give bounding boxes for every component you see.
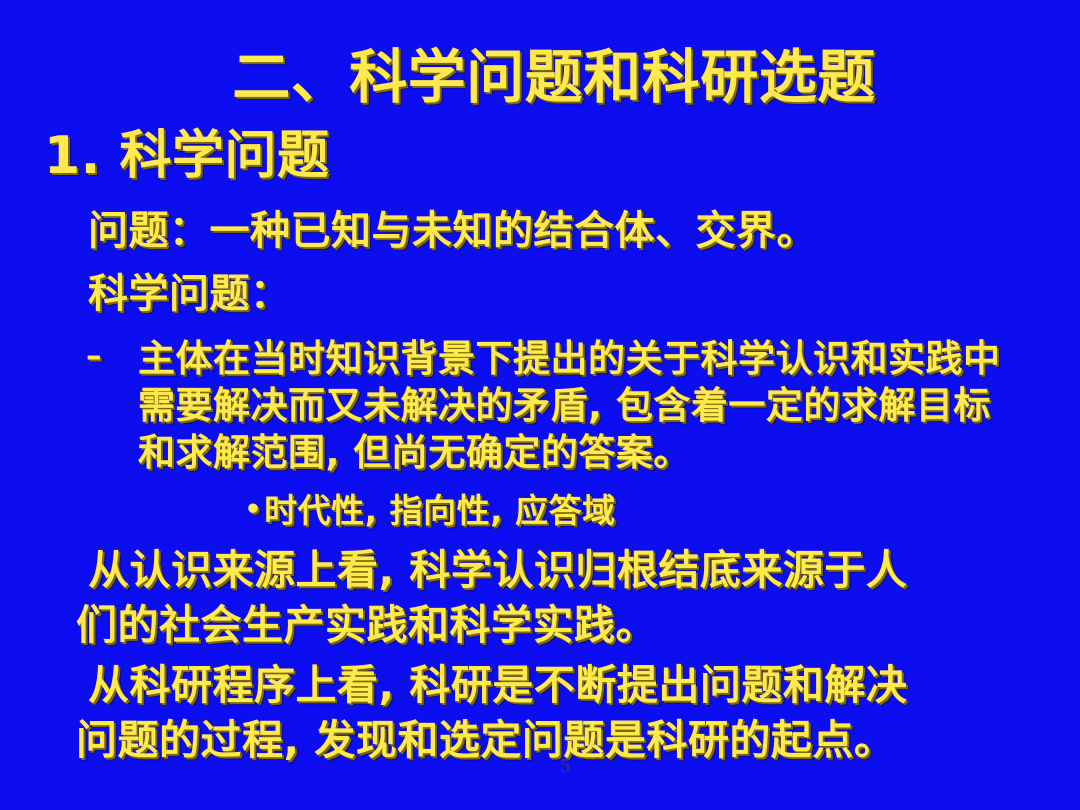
paragraph-research-procedure: 从科研程序上看, 科研是不断提出问题和解决 问题的过程, 发现和选定问题是科研的… [88,658,1023,768]
dash-bullet-marker: – [112,333,138,380]
slide-title: 二、科学问题和科研选题 [0,44,1080,110]
dash-bullet-text: 主体在当时知识背景下提出的关于科学认识和实践中需要解决而又未解决的矛盾, 包含着… [138,337,1001,474]
sub-bullet-text: 时代性, 指向性, 应答域 [264,491,616,530]
presentation-slide: 二、科学问题和科研选题 1. 科学问题 问题：一种已知与未知的结合体、交界。 科… [0,0,1080,810]
bullet-line-scientific-problem-label: 科学问题： [88,270,291,318]
sub-bullet-marker: • [244,494,262,525]
paragraph-cognition-source-line-1: 从认识来源上看, 科学认识归根结底来源于人 [88,546,907,594]
sub-bullet-item: •时代性, 指向性, 应答域 [0,489,1080,532]
section-heading: 1. 科学问题 [44,126,330,186]
bullet-line-problem-definition: 问题：一种已知与未知的结合体、交界。 [88,207,817,255]
paragraph-cognition-source: 从认识来源上看, 科学认识归根结底来源于人 们的社会生产实践和科学实践。 [88,543,1023,653]
paragraph-cognition-source-line-2: 们的社会生产实践和科学实践。 [76,598,1023,653]
dash-bullet-item: –主体在当时知识背景下提出的关于科学认识和实践中需要解决而又未解决的矛盾, 包含… [112,333,1022,476]
slide-page-number: 5 [560,755,570,778]
paragraph-research-procedure-line-2: 问题的过程, 发现和选定问题是科研的起点。 [76,713,1023,768]
paragraph-research-procedure-line-1: 从科研程序上看, 科研是不断提出问题和解决 [88,661,907,709]
